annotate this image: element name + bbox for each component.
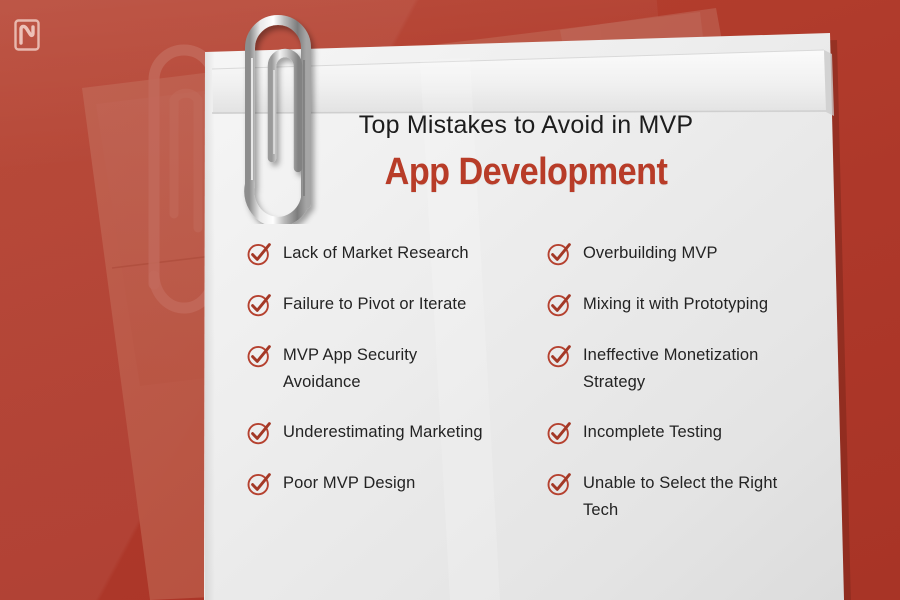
list-item-label: Unable to Select the Right Tech: [583, 470, 798, 523]
paper-content: Top Mistakes to Avoid in MVP App Develop…: [206, 0, 846, 600]
list-item: Underestimating Marketing: [246, 419, 546, 446]
list-item-label: Failure to Pivot or Iterate: [283, 291, 466, 318]
checklist-column-left: Lack of Market Research Failure to Pivot…: [246, 240, 546, 548]
infographic-canvas: Top Mistakes to Avoid in MVP App Develop…: [0, 0, 900, 600]
list-item-label: Poor MVP Design: [283, 470, 415, 497]
list-item-label: MVP App Security Avoidance: [283, 342, 483, 395]
list-item-label: Incomplete Testing: [583, 419, 722, 446]
check-circle-icon: [546, 343, 572, 369]
check-circle-icon: [546, 420, 572, 446]
list-item: MVP App Security Avoidance: [246, 342, 546, 395]
checklist-column-right: Overbuilding MVP Mixing it with Prototyp…: [546, 240, 846, 548]
list-item: Mixing it with Prototyping: [546, 291, 846, 318]
list-item: Unable to Select the Right Tech: [546, 470, 846, 523]
list-item: Ineffective Monetization Strategy: [546, 342, 846, 395]
list-item-label: Mixing it with Prototyping: [583, 291, 768, 318]
check-circle-icon: [246, 241, 272, 267]
check-circle-icon: [546, 471, 572, 497]
list-item: Failure to Pivot or Iterate: [246, 291, 546, 318]
check-circle-icon: [246, 420, 272, 446]
list-item: Incomplete Testing: [546, 419, 846, 446]
check-circle-icon: [546, 292, 572, 318]
list-item-label: Overbuilding MVP: [583, 240, 718, 267]
list-item-label: Ineffective Monetization Strategy: [583, 342, 798, 395]
check-circle-icon: [246, 292, 272, 318]
list-item: Poor MVP Design: [246, 470, 546, 497]
list-item: Lack of Market Research: [246, 240, 546, 267]
check-circle-icon: [246, 343, 272, 369]
brand-logo-icon[interactable]: [12, 18, 42, 52]
check-circle-icon: [546, 241, 572, 267]
page-title-line1: Top Mistakes to Avoid in MVP: [206, 112, 846, 140]
checklist-columns: Lack of Market Research Failure to Pivot…: [246, 240, 846, 548]
list-item-label: Underestimating Marketing: [283, 419, 483, 446]
heading-block: Top Mistakes to Avoid in MVP App Develop…: [206, 112, 846, 193]
list-item: Overbuilding MVP: [546, 240, 846, 267]
check-circle-icon: [246, 471, 272, 497]
list-item-label: Lack of Market Research: [283, 240, 469, 267]
page-title-line2: App Development: [238, 152, 814, 194]
